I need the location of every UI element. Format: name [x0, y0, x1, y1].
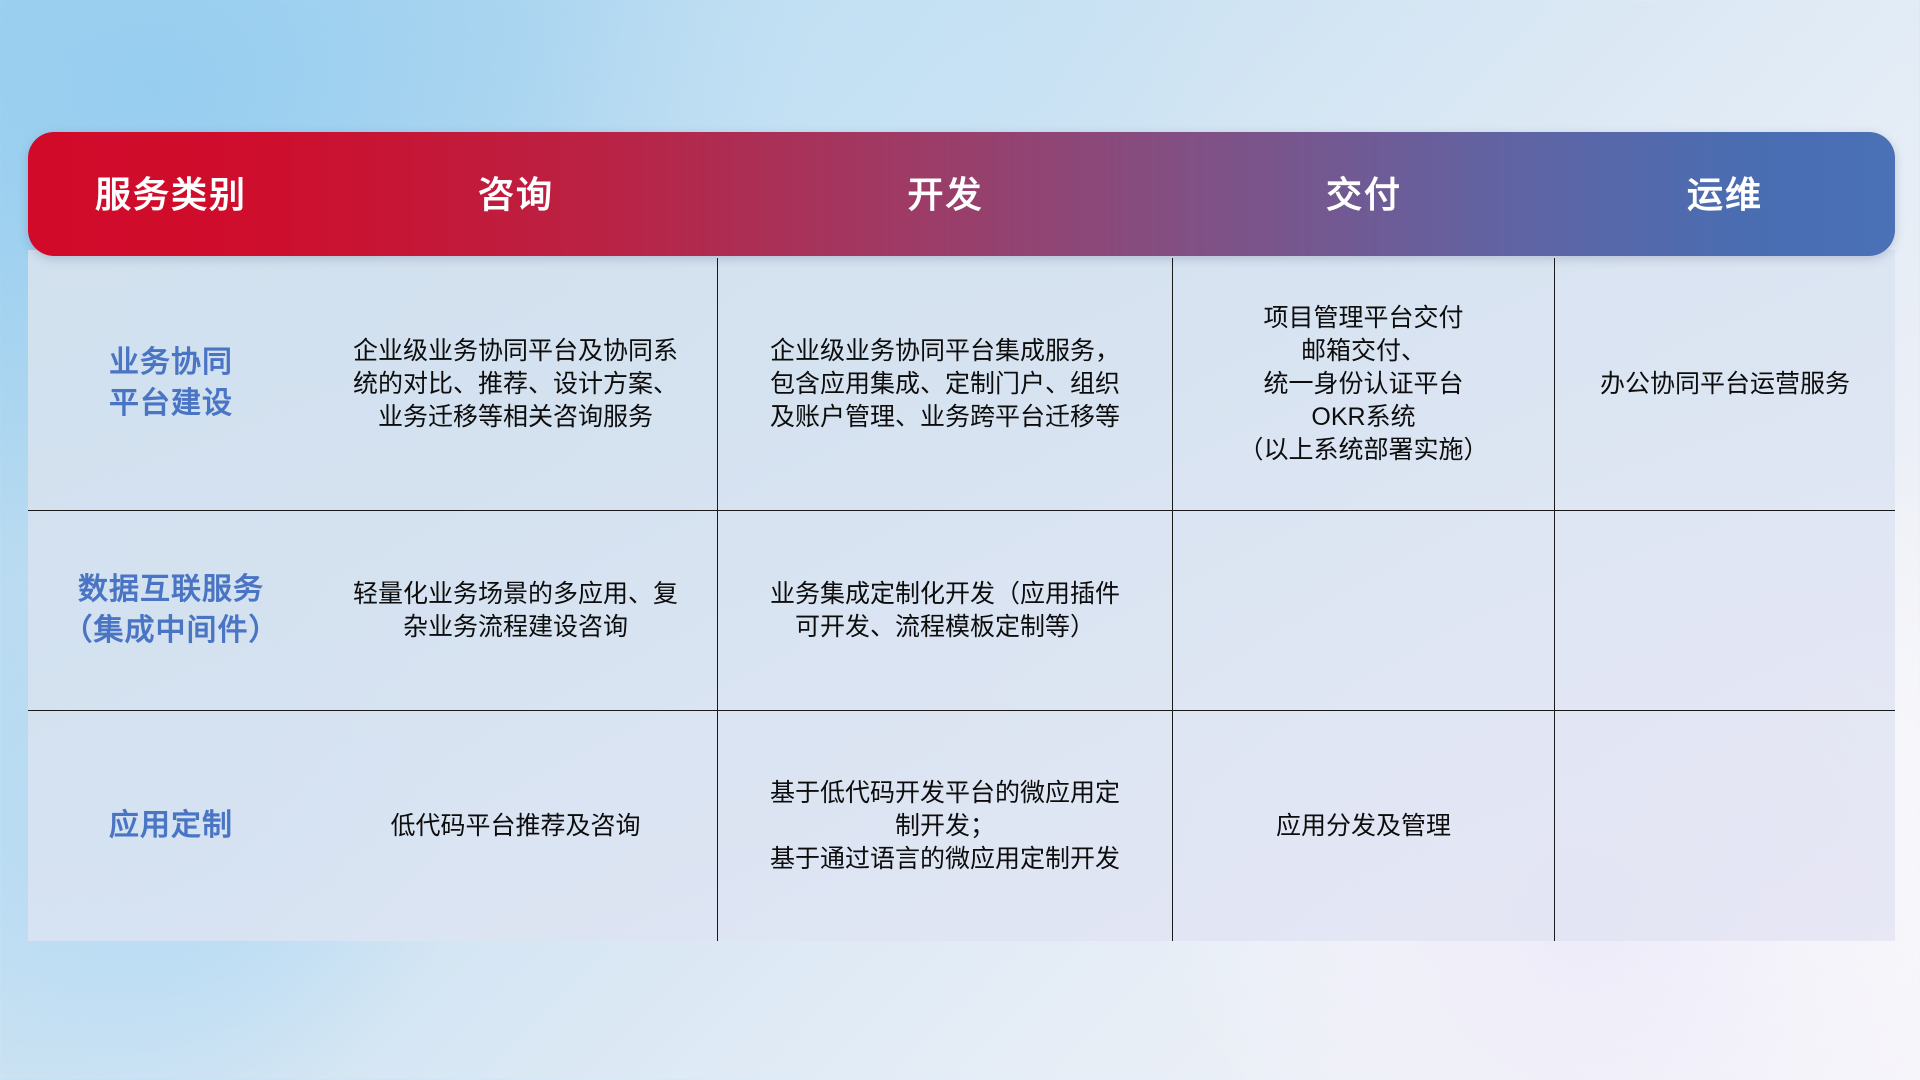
- cell-row2-delivery: 应用分发及管理: [1173, 711, 1555, 941]
- column-header-development: 开发: [718, 132, 1173, 256]
- cell-row0-consulting: 企业级业务协同平台及协同系 统的对比、推荐、设计方案、 业务迁移等相关咨询服务: [314, 258, 718, 511]
- column-header-consulting: 咨询: [314, 132, 718, 256]
- table-header-row: 服务类别 咨询 开发 交付 运维: [28, 132, 1895, 256]
- cell-row0-operations: 办公协同平台运营服务: [1555, 258, 1895, 511]
- table-row: 应用定制 低代码平台推荐及咨询 基于低代码开发平台的微应用定 制开发； 基于通过…: [28, 711, 1895, 941]
- cell-row0-development: 企业级业务协同平台集成服务， 包含应用集成、定制门户、组织 及账户管理、业务跨平…: [718, 258, 1173, 511]
- table-row: 数据互联服务 （集成中间件） 轻量化业务场景的多应用、复 杂业务流程建设咨询 业…: [28, 511, 1895, 711]
- cell-row1-delivery: [1173, 511, 1555, 711]
- cell-row1-consulting: 轻量化业务场景的多应用、复 杂业务流程建设咨询: [314, 511, 718, 711]
- cell-row0-delivery: 项目管理平台交付 邮箱交付、 统一身份认证平台 OKR系统 （以上系统部署实施）: [1173, 258, 1555, 511]
- table-body: 业务协同 平台建设 企业级业务协同平台及协同系 统的对比、推荐、设计方案、 业务…: [28, 250, 1895, 941]
- column-header-service-category: 服务类别: [28, 132, 314, 256]
- row-label-data-interconnect: 数据互联服务 （集成中间件）: [28, 511, 314, 711]
- service-matrix-table: 服务类别 咨询 开发 交付 运维 业务协同 平台建设 企业级业务协同平台及协同系…: [28, 132, 1895, 941]
- cell-row2-consulting: 低代码平台推荐及咨询: [314, 711, 718, 941]
- column-header-delivery: 交付: [1173, 132, 1555, 256]
- column-header-operations: 运维: [1555, 132, 1895, 256]
- cell-row2-development: 基于低代码开发平台的微应用定 制开发； 基于通过语言的微应用定制开发: [718, 711, 1173, 941]
- cell-row1-development: 业务集成定制化开发（应用插件 可开发、流程模板定制等）: [718, 511, 1173, 711]
- cell-row2-operations: [1555, 711, 1895, 941]
- row-label-business-collaboration: 业务协同 平台建设: [28, 258, 314, 511]
- cell-row1-operations: [1555, 511, 1895, 711]
- row-label-app-customization: 应用定制: [28, 711, 314, 941]
- table-row: 业务协同 平台建设 企业级业务协同平台及协同系 统的对比、推荐、设计方案、 业务…: [28, 258, 1895, 511]
